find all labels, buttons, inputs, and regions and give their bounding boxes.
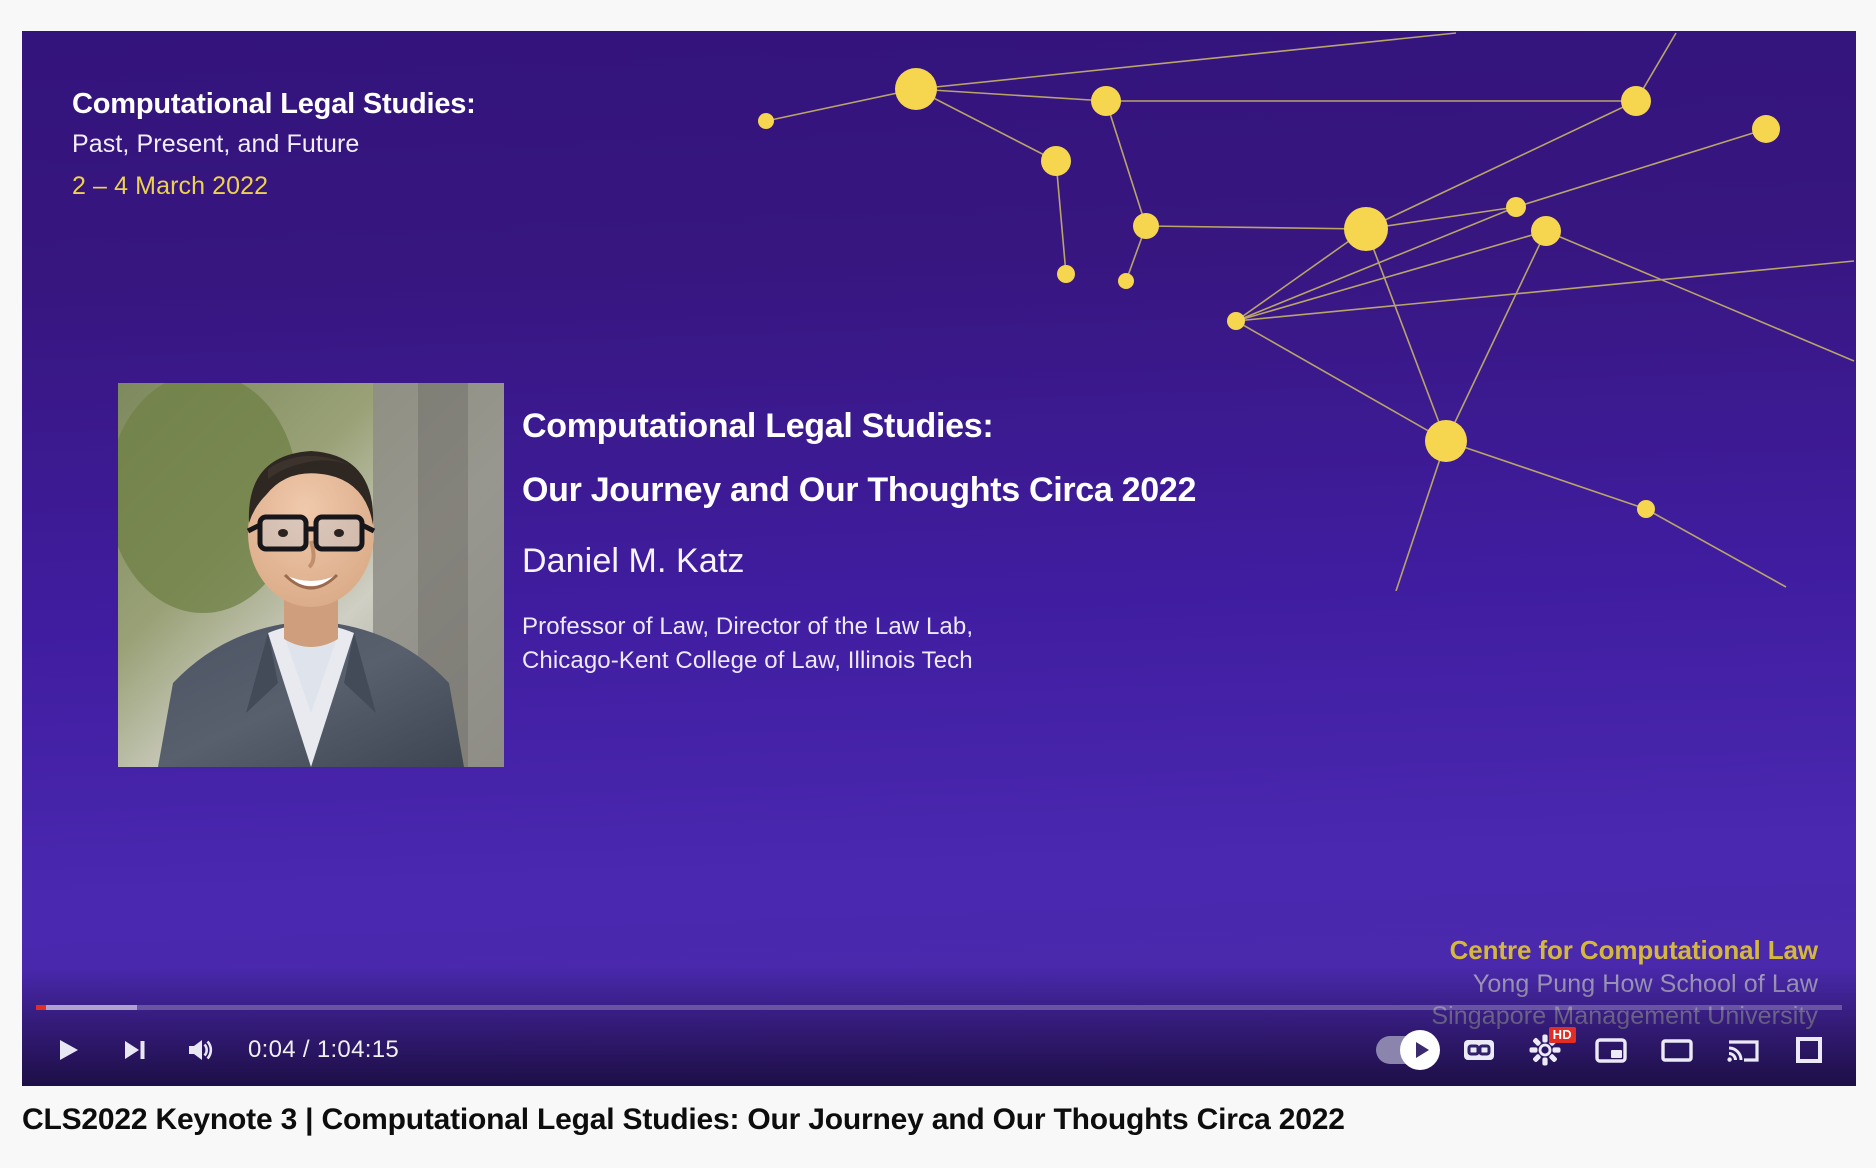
video-title: CLS2022 Keynote 3 | Computational Legal … — [22, 1103, 1345, 1137]
cast-button[interactable] — [1710, 1014, 1776, 1086]
youtube-watch-page: Computational Legal Studies: Past, Prese… — [0, 0, 1876, 1168]
affiliation-line2: Chicago-Kent College of Law, Illinois Te… — [522, 644, 1722, 678]
fullscreen-button[interactable] — [1776, 1014, 1842, 1086]
miniplayer-button[interactable] — [1578, 1014, 1644, 1086]
play-icon — [49, 1032, 85, 1068]
quality-hd-badge: HD — [1549, 1027, 1576, 1043]
autoplay-switch-track — [1376, 1036, 1434, 1064]
progress-bar[interactable] — [36, 1005, 1842, 1010]
slide-header-line1: Computational Legal Studies: — [72, 86, 476, 122]
closed-captions-icon — [1459, 1030, 1499, 1070]
theater-mode-icon — [1657, 1030, 1697, 1070]
play-button[interactable] — [34, 1014, 100, 1086]
controls-left-group: 0:04 / 1:04:15 — [22, 1014, 413, 1086]
slide-header: Computational Legal Studies: Past, Prese… — [72, 86, 476, 202]
autoplay-switch-knob — [1400, 1030, 1440, 1070]
progress-played — [36, 1005, 46, 1010]
slide-header-date: 2 – 4 March 2022 — [72, 171, 476, 202]
mute-button[interactable] — [166, 1014, 232, 1086]
next-track-icon — [115, 1032, 151, 1068]
video-player[interactable]: Computational Legal Studies: Past, Prese… — [22, 31, 1856, 1086]
speaker-portrait — [118, 383, 504, 767]
next-video-button[interactable] — [100, 1014, 166, 1086]
video-frame: Computational Legal Studies: Past, Prese… — [22, 31, 1856, 1086]
slide-header-line2: Past, Present, and Future — [72, 129, 476, 160]
progress-buffered — [36, 1005, 137, 1010]
slide-title-line1: Computational Legal Studies: — [522, 409, 1722, 443]
time-display: 0:04 / 1:04:15 — [232, 1036, 413, 1064]
institution-line2: Yong Pung How School of Law — [1431, 968, 1818, 1000]
institution-line1: Centre for Computational Law — [1431, 934, 1818, 966]
settings-button[interactable]: HD — [1512, 1014, 1578, 1086]
affiliation-line1: Professor of Law, Director of the Law La… — [522, 610, 1722, 644]
volume-icon — [181, 1032, 217, 1068]
autoplay-toggle[interactable] — [1368, 1014, 1442, 1086]
slide-speaker-affiliation: Professor of Law, Director of the Law La… — [522, 610, 1722, 678]
miniplayer-icon — [1591, 1030, 1631, 1070]
slide-title-block: Computational Legal Studies: Our Journey… — [522, 409, 1722, 679]
fullscreen-icon — [1789, 1030, 1829, 1070]
player-control-bar: 0:04 / 1:04:15 — [22, 1014, 1856, 1086]
slide-title-line2: Our Journey and Our Thoughts Circa 2022 — [522, 473, 1722, 507]
cast-icon — [1723, 1030, 1763, 1070]
captions-button[interactable] — [1446, 1014, 1512, 1086]
slide-speaker-name: Daniel M. Katz — [522, 543, 1722, 580]
controls-right-group: HD — [1368, 1014, 1856, 1086]
theater-mode-button[interactable] — [1644, 1014, 1710, 1086]
